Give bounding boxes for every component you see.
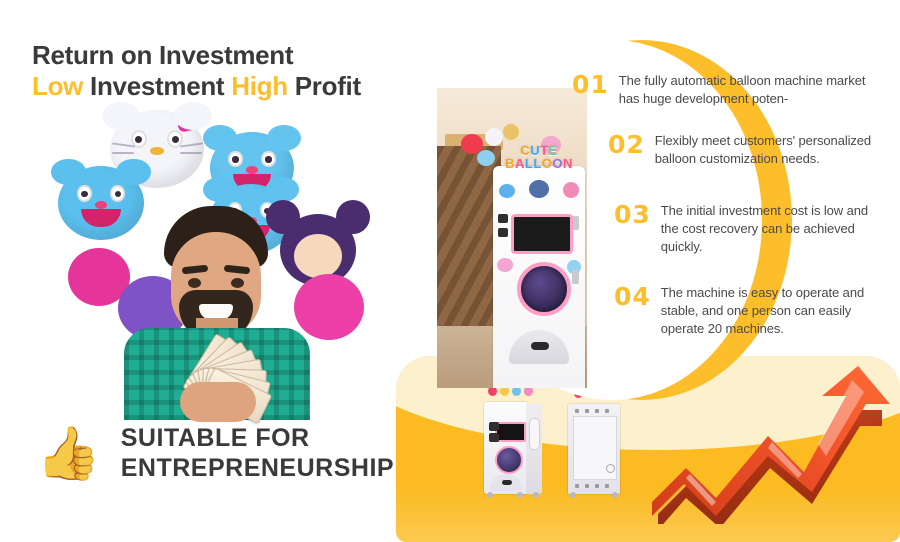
machine-window — [495, 446, 523, 474]
small-vending-machine-back — [568, 404, 620, 498]
balloon-eye — [228, 151, 242, 168]
balloon-whisker — [180, 152, 203, 154]
feature-number: 04 — [614, 284, 651, 309]
machine-body-rear — [568, 404, 620, 494]
headline-block: Return on Investment Low Investment High… — [32, 40, 382, 101]
headline-line-2: Low Investment High Profit — [32, 71, 382, 102]
sticker-astronaut — [529, 180, 549, 198]
thumbs-up-icon: 👍 — [36, 428, 101, 480]
machine-dispense-slot — [502, 480, 512, 485]
balloon-eye — [261, 151, 275, 168]
machine-screen — [495, 422, 526, 442]
balloon-bow — [177, 115, 207, 133]
balloon-whisker — [112, 143, 135, 148]
machine-body — [484, 402, 528, 494]
machine-button — [498, 214, 508, 223]
machine-dispenser-arch — [490, 474, 522, 491]
machine-button — [498, 228, 508, 237]
machine-bolt — [605, 484, 609, 488]
machine-touchscreen[interactable] — [511, 214, 573, 254]
headline-investment: Investment — [90, 71, 224, 101]
slogan-text: SUITABLE FOR ENTREPRENEURSHIP — [121, 424, 394, 483]
balloon-mickey-ear — [336, 200, 370, 234]
headline-profit: Profit — [295, 71, 361, 101]
feature-number: 03 — [614, 202, 651, 227]
sticker-planet — [497, 258, 513, 272]
sticker-rocket — [499, 184, 515, 198]
right-panel: CUTE BALLOON 01 The fully automatic ball… — [396, 56, 900, 488]
machine-bolt — [575, 409, 579, 413]
man-figure — [124, 206, 310, 420]
machine-bolt — [595, 409, 599, 413]
headline-high: High — [231, 71, 288, 101]
photo-balloon-gold — [503, 124, 519, 140]
brand-word-balloon: BALLOON — [499, 157, 579, 170]
feature-number: 02 — [608, 132, 645, 157]
small-vending-machine-front — [484, 402, 542, 498]
feature-item-02: 02 Flexibly meet customers' personalized… — [608, 132, 880, 168]
hero-photo-man-with-money — [58, 98, 384, 420]
slogan-line-2: ENTREPRENEURSHIP — [121, 454, 394, 484]
man-eyebrow — [182, 265, 209, 275]
feature-text: Flexibly meet customers' personalized ba… — [655, 132, 880, 168]
man-eye — [231, 278, 244, 288]
machine-dispense-slot — [531, 342, 549, 350]
man-eyebrow — [224, 265, 251, 275]
machine-wheel — [533, 492, 539, 498]
feature-text: The initial investment cost is low and t… — [661, 202, 882, 256]
machine-button — [489, 422, 499, 431]
machine-photo: CUTE BALLOON — [437, 88, 587, 388]
machine-rear-dial — [606, 464, 615, 473]
machine-button — [489, 433, 499, 442]
balloon-whisker — [180, 143, 203, 148]
machine-wheel — [487, 492, 493, 498]
sticker-rocket-right — [563, 182, 579, 198]
machine-bolt — [585, 484, 589, 488]
machine-side-cabinet — [526, 404, 542, 494]
machine-wheel — [570, 492, 576, 498]
slogan-line-1: SUITABLE FOR — [121, 424, 394, 454]
balloon-nose — [150, 147, 163, 156]
man-eye — [188, 278, 201, 288]
headline-line-1: Return on Investment — [32, 40, 382, 71]
feature-text: The fully automatic balloon machine mark… — [619, 72, 872, 108]
man-hands — [180, 382, 256, 422]
machine-bolt — [585, 409, 589, 413]
machine-dispenser-arch — [509, 330, 569, 364]
balloon-nose — [246, 166, 258, 174]
machine-coin-slot — [572, 216, 579, 230]
balloon-mouth — [81, 209, 121, 227]
headline-low: Low — [32, 71, 83, 101]
left-panel: Return on Investment Low Investment High… — [0, 0, 400, 540]
machine-bolt — [605, 409, 609, 413]
balloon-whisker — [112, 152, 135, 154]
machine-bolt — [575, 484, 579, 488]
machine-bolt — [595, 484, 599, 488]
machine-side-window — [529, 418, 540, 450]
machine-display-window — [517, 262, 571, 316]
balloon-nose — [95, 201, 107, 209]
machine-card-reader — [572, 270, 579, 284]
feature-text: The machine is easy to operate and stabl… — [661, 284, 882, 338]
machine-wheel — [517, 492, 523, 498]
feature-item-03: 03 The initial investment cost is low an… — [614, 202, 882, 256]
feature-number: 01 — [572, 72, 609, 97]
slogan-row: 👍 SUITABLE FOR ENTREPRENEURSHIP — [36, 424, 394, 483]
balloon-eye — [110, 185, 125, 202]
machine-wheel — [612, 492, 618, 498]
machine-brand-logo: CUTE BALLOON — [499, 144, 579, 170]
feature-item-04: 04 The machine is easy to operate and st… — [614, 284, 882, 338]
feature-item-01: 01 The fully automatic balloon machine m… — [572, 72, 872, 108]
balloon-eye — [77, 185, 92, 202]
photo-balloon-blue — [477, 150, 495, 166]
balloon-vending-machine: CUTE BALLOON — [493, 166, 585, 388]
